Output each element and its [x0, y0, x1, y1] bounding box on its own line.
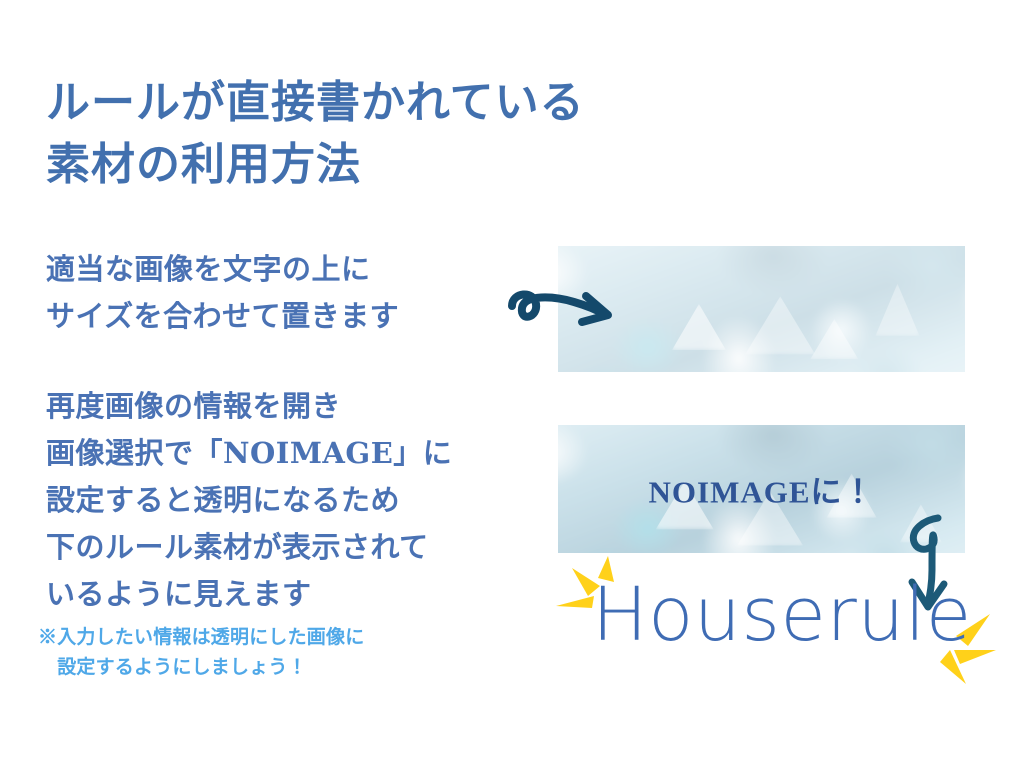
houserule-logo: Houserule: [592, 578, 972, 652]
slide-canvas: ルールが直接書かれている 素材の利用方法 適当な画像を文字の上に サイズを合わせ…: [0, 0, 1024, 768]
curly-arrow-right-icon: [508, 272, 626, 344]
noimage-caption: NOIMAGEに！: [558, 467, 965, 512]
instruction-paragraph-1: 適当な画像を文字の上に サイズを合わせて置きます: [46, 246, 516, 340]
footnote-note: ※入力したい情報は透明にした画像に 設定するようにしましょう！: [38, 622, 508, 682]
page-title: ルールが直接書かれている 素材の利用方法: [46, 72, 746, 197]
instruction-paragraph-2: 再度画像の情報を開き 画像選択で「NOIMAGE」に 設定すると透明になるため …: [46, 383, 536, 618]
